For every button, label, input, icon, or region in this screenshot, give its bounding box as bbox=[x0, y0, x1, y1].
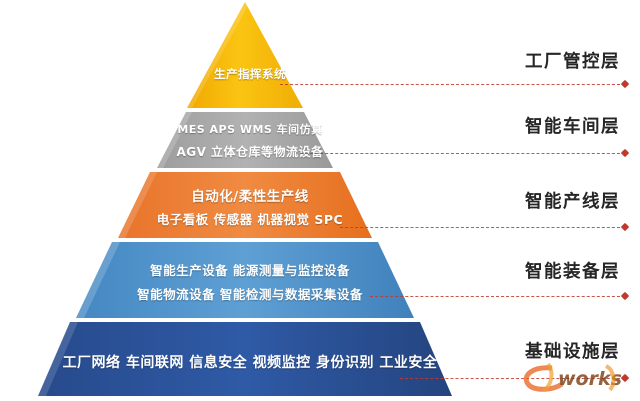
pyramid-layer-smart-workshop[interactable]: MES APS WMS 车间仿真 AGV 立体仓库等物流设备 bbox=[0, 112, 500, 170]
tier-label-smart-workshop: 智能车间层 bbox=[505, 113, 640, 138]
pyramid-layer-factory-control[interactable]: 生产指挥系统 bbox=[0, 2, 500, 110]
tier-label-factory-control: 工厂管控层 bbox=[505, 48, 640, 73]
layer-shape-trapezoid bbox=[38, 322, 452, 396]
pyramid-layer-smart-equipment[interactable]: 智能生产设备 能源测量与监控设备 智能物流设备 智能检测与数据采集设备 bbox=[0, 242, 500, 320]
pyramid-layer-infrastructure[interactable]: 工厂网络 车间联网 信息安全 视频监控 身份识别 工业安全 bbox=[0, 322, 500, 398]
tier-label-infrastructure: 基础设施层 bbox=[505, 338, 640, 363]
tier-label-smart-equipment: 智能装备层 bbox=[505, 258, 640, 283]
pyramid-stack: 生产指挥系统 MES APS WMS 车间仿真 AGV 立体仓库等物流设备 bbox=[0, 0, 500, 401]
layer-shape-trapezoid bbox=[118, 172, 372, 238]
diagram-canvas: 生产指挥系统 MES APS WMS 车间仿真 AGV 立体仓库等物流设备 bbox=[0, 0, 640, 401]
layer-shape-trapezoid bbox=[76, 242, 414, 318]
layer-shape-triangle bbox=[187, 2, 303, 108]
connector-endpoint-marker bbox=[621, 223, 629, 231]
connector-line-infrastructure bbox=[400, 378, 625, 380]
connector-endpoint-marker bbox=[621, 374, 629, 382]
tier-label-smart-production-line: 智能产线层 bbox=[505, 188, 640, 213]
connector-line-smart-equipment bbox=[370, 296, 625, 298]
connector-line-smart-production-line bbox=[340, 227, 625, 229]
connector-endpoint-marker bbox=[621, 292, 629, 300]
connector-line-smart-workshop bbox=[300, 153, 625, 155]
connector-endpoint-marker bbox=[621, 149, 629, 157]
connector-line-factory-control bbox=[280, 84, 625, 86]
pyramid-layer-smart-production-line[interactable]: 自动化/柔性生产线 电子看板 传感器 机器视觉 SPC bbox=[0, 172, 500, 240]
connector-endpoint-marker bbox=[621, 80, 629, 88]
